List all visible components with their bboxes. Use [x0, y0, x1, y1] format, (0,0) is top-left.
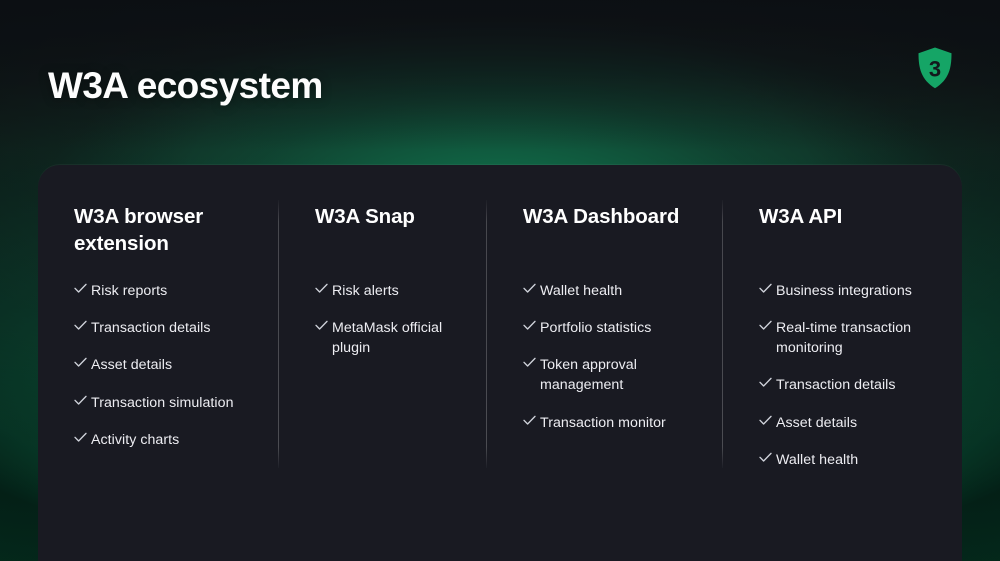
ecosystem-card: W3A browser extension Risk reports Trans… [38, 165, 962, 561]
list-item-label: Token approval management [540, 355, 703, 395]
list-item: Portfolio statistics [523, 318, 703, 338]
list-item: MetaMask official plugin [315, 318, 467, 358]
column-title: W3A Snap [315, 203, 467, 257]
check-icon [523, 357, 540, 368]
check-icon [523, 283, 540, 294]
list-item-label: Real-time transaction monitoring [776, 318, 942, 358]
list-item-label: Business integrations [776, 281, 912, 301]
list-item: Real-time transaction monitoring [759, 318, 942, 358]
check-icon [74, 320, 91, 331]
check-icon [74, 357, 91, 368]
list-item: Asset details [74, 355, 257, 375]
column-w3a-api: W3A API Business integrations Real-time … [723, 165, 962, 561]
slide-canvas: W3A ecosystem 3 W3A browser extension Ri… [0, 0, 1000, 561]
list-item-label: Risk reports [91, 281, 167, 301]
column-container: W3A browser extension Risk reports Trans… [38, 165, 962, 561]
list-item: Wallet health [759, 450, 942, 470]
check-icon [759, 320, 776, 331]
list-item-label: Portfolio statistics [540, 318, 651, 338]
list-item: Risk reports [74, 281, 257, 301]
check-icon [523, 320, 540, 331]
feature-list: Risk reports Transaction details Asset d… [74, 281, 257, 450]
list-item: Transaction details [74, 318, 257, 338]
list-item-label: Asset details [91, 355, 172, 375]
list-item-label: Transaction details [776, 375, 896, 395]
list-item-label: Wallet health [776, 450, 858, 470]
check-icon [315, 283, 332, 294]
check-icon [759, 415, 776, 426]
list-item-label: Transaction details [91, 318, 211, 338]
column-title: W3A browser extension [74, 203, 257, 257]
check-icon [523, 415, 540, 426]
list-item-label: Wallet health [540, 281, 622, 301]
list-item: Asset details [759, 413, 942, 433]
check-icon [74, 432, 91, 443]
check-icon [759, 377, 776, 388]
feature-list: Wallet health Portfolio statistics Token… [523, 281, 703, 433]
list-item: Transaction details [759, 375, 942, 395]
page-title: W3A ecosystem [48, 66, 323, 107]
list-item-label: Transaction monitor [540, 413, 666, 433]
check-icon [759, 452, 776, 463]
list-item-label: Risk alerts [332, 281, 399, 301]
list-item: Risk alerts [315, 281, 467, 301]
feature-list: Business integrations Real-time transact… [759, 281, 942, 470]
column-w3a-dashboard: W3A Dashboard Wallet health Portfolio st… [487, 165, 723, 561]
check-icon [315, 320, 332, 331]
column-title: W3A API [759, 203, 942, 257]
column-title: W3A Dashboard [523, 203, 703, 257]
list-item-label: MetaMask official plugin [332, 318, 467, 358]
list-item-label: Activity charts [91, 430, 179, 450]
list-item-label: Asset details [776, 413, 857, 433]
list-item: Business integrations [759, 281, 942, 301]
list-item-label: Transaction simulation [91, 393, 234, 413]
w3a-shield-logo-icon: 3 [916, 46, 954, 90]
feature-list: Risk alerts MetaMask official plugin [315, 281, 467, 358]
check-icon [759, 283, 776, 294]
list-item: Activity charts [74, 430, 257, 450]
column-w3a-browser-extension: W3A browser extension Risk reports Trans… [38, 165, 279, 561]
svg-text:3: 3 [929, 57, 941, 82]
list-item: Wallet health [523, 281, 703, 301]
check-icon [74, 283, 91, 294]
list-item: Token approval management [523, 355, 703, 395]
list-item: Transaction simulation [74, 393, 257, 413]
column-w3a-snap: W3A Snap Risk alerts MetaMask official p… [279, 165, 487, 561]
check-icon [74, 395, 91, 406]
list-item: Transaction monitor [523, 413, 703, 433]
